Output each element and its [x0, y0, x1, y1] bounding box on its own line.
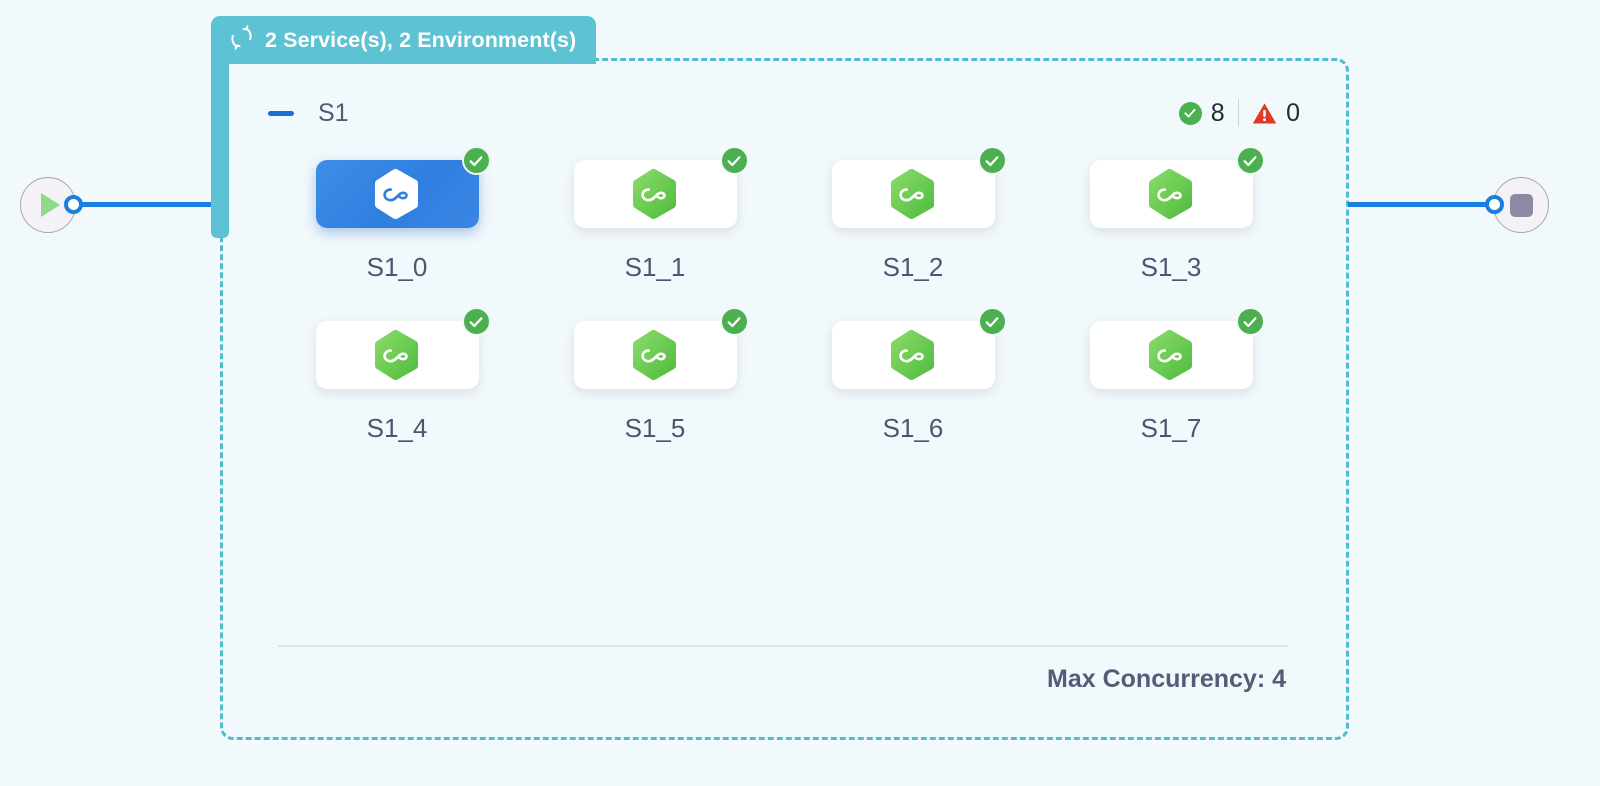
service-node-s1_7[interactable] — [1090, 321, 1253, 389]
hexagon-infinity-icon — [1148, 329, 1195, 381]
error-status-chip: 0 — [1252, 99, 1300, 128]
service-node-s1_6[interactable] — [832, 321, 995, 389]
error-count: 0 — [1286, 99, 1300, 128]
node-cell-s1_6: S1_6 — [784, 321, 1042, 444]
node-label: S1_4 — [367, 413, 428, 444]
node-cell-s1_4: S1_4 — [268, 321, 526, 444]
node-grid: S1_0 S1_1 S1_2 — [268, 160, 1300, 482]
minus-collapse-icon[interactable] — [268, 111, 294, 116]
hexagon-infinity-icon — [374, 329, 421, 381]
node-cell-s1_5: S1_5 — [526, 321, 784, 444]
node-cell-s1_3: S1_3 — [1042, 160, 1300, 283]
service-node-s1_2[interactable] — [832, 160, 995, 228]
node-cell-s1_7: S1_7 — [1042, 321, 1300, 444]
node-status-check-icon — [462, 146, 491, 175]
node-status-check-icon — [978, 146, 1007, 175]
service-node-s1_1[interactable] — [574, 160, 737, 228]
node-status-check-icon — [1236, 307, 1265, 336]
node-status-check-icon — [978, 307, 1007, 336]
workflow-canvas: 2 Service(s), 2 Environment(s) S1 8 — [0, 0, 1600, 786]
node-label: S1_3 — [1141, 252, 1202, 283]
service-node-s1_5[interactable] — [574, 321, 737, 389]
hexagon-infinity-icon — [1148, 168, 1195, 220]
node-label: S1_7 — [1141, 413, 1202, 444]
node-label: S1_0 — [367, 252, 428, 283]
node-label: S1_1 — [625, 252, 686, 283]
service-node-s1_0[interactable] — [316, 160, 479, 228]
node-status-check-icon — [720, 307, 749, 336]
hexagon-infinity-icon — [632, 329, 679, 381]
start-output-port[interactable] — [64, 195, 83, 214]
status-summary: 8 0 — [1179, 99, 1300, 128]
edge-start-to-group — [78, 202, 226, 207]
node-cell-s1_0: S1_0 — [268, 160, 526, 283]
node-cell-s1_2: S1_2 — [784, 160, 1042, 283]
node-row: S1_4 S1_5 S1_6 — [268, 321, 1300, 444]
edge-group-to-end — [1348, 202, 1490, 207]
section-header: S1 8 0 — [268, 92, 1300, 134]
node-label: S1_2 — [883, 252, 944, 283]
stop-square-icon — [1510, 194, 1533, 217]
service-node-s1_3[interactable] — [1090, 160, 1253, 228]
node-status-check-icon — [1236, 146, 1265, 175]
service-node-s1_4[interactable] — [316, 321, 479, 389]
node-status-check-icon — [720, 146, 749, 175]
success-status-chip: 8 — [1179, 99, 1225, 128]
group-badge-label: 2 Service(s), 2 Environment(s) — [265, 28, 576, 53]
hexagon-infinity-icon — [890, 329, 937, 381]
section-title: S1 — [318, 99, 349, 128]
check-circle-icon — [1179, 102, 1202, 125]
hexagon-infinity-icon — [632, 168, 679, 220]
hexagon-infinity-icon — [374, 168, 421, 220]
max-concurrency-label: Max Concurrency: 4 — [278, 665, 1286, 694]
loop-repeat-icon — [229, 25, 254, 55]
group-badge[interactable]: 2 Service(s), 2 Environment(s) — [211, 16, 596, 64]
hexagon-infinity-icon — [890, 168, 937, 220]
play-icon — [41, 193, 60, 217]
group-spine-accent — [211, 56, 229, 238]
node-label: S1_5 — [625, 413, 686, 444]
status-divider — [1238, 99, 1240, 127]
node-status-check-icon — [462, 307, 491, 336]
end-input-port[interactable] — [1485, 195, 1504, 214]
node-row: S1_0 S1_1 S1_2 — [268, 160, 1300, 283]
node-label: S1_6 — [883, 413, 944, 444]
success-count: 8 — [1211, 99, 1225, 128]
footer-divider — [278, 645, 1288, 647]
node-cell-s1_1: S1_1 — [526, 160, 784, 283]
warning-triangle-icon — [1252, 102, 1277, 125]
